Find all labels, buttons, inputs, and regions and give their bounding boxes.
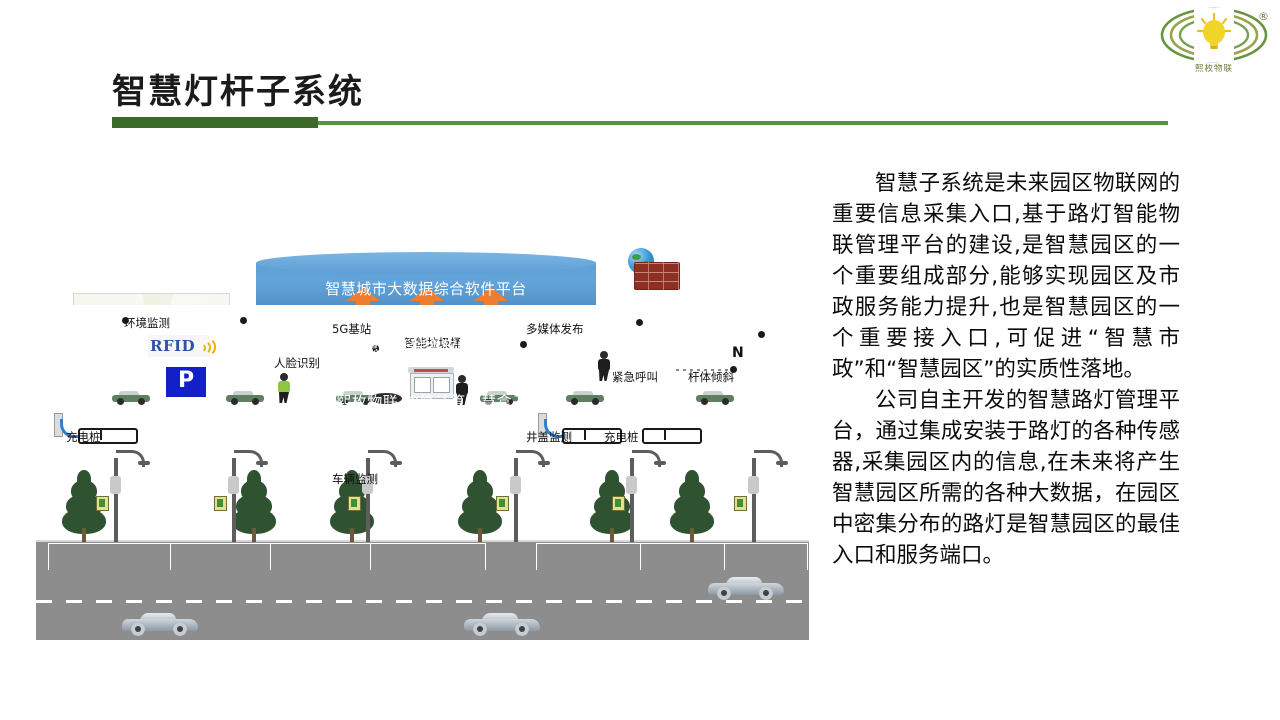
slide-root: ® 熙枚物联 智慧灯杆子系统 智慧子系统是未来园区物联网的重要信息采集入口,基于… [0, 0, 1280, 720]
label-emergency-call: 紧急呼叫 [612, 369, 658, 385]
parked-car-icon [112, 391, 150, 405]
page-title: 智慧灯杆子系统 [112, 64, 364, 113]
lamp-pole[interactable] [216, 450, 262, 542]
parking-bay [270, 543, 372, 570]
paragraph-2: 公司自主开发的智慧路灯管理平台，通过集成安装于路灯的各种传感器,采集园区内的信息… [832, 385, 1180, 571]
sensor-node [636, 319, 643, 326]
label-charging-pile-mid: 充电桩 [604, 429, 639, 445]
moving-car [464, 612, 540, 636]
ev-in-bay [642, 425, 698, 442]
pedestrian-figure [596, 351, 612, 381]
parking-bay [640, 543, 726, 570]
lamp-pole[interactable] [614, 450, 660, 542]
lamp-pole[interactable] [736, 450, 782, 542]
paragraph-1: 智慧子系统是未来园区物联网的重要信息采集入口,基于路灯智能物联管理平台的建设,是… [832, 168, 1180, 385]
description-text: 智慧子系统是未来园区物联网的重要信息采集入口,基于路灯智能物联管理平台的建设,是… [832, 168, 1180, 571]
label-env-monitor: 环境监测 [124, 315, 170, 331]
parking-bay [536, 543, 642, 570]
label-pole-tilt: 杆体倾斜 [688, 369, 734, 385]
svg-text:®: ® [1258, 10, 1269, 23]
layer-label: 智慧城市大数据综合软件平台 [256, 278, 596, 299]
title-underline-thick [112, 117, 318, 128]
rfid-label: RFID [148, 337, 195, 355]
lamp-pole[interactable] [350, 450, 396, 542]
parking-sign-icon: P [164, 365, 208, 399]
lamp-pole[interactable] [98, 450, 144, 542]
label-manhole-monitor: 井盖监测 [526, 429, 572, 445]
road-center-line [36, 600, 809, 603]
lamp-pole[interactable] [498, 450, 544, 542]
label-charging-pile-left: 充电桩 [66, 429, 101, 445]
parking-bay [170, 543, 272, 570]
layer-label: 智慧灯杆综合软件平台 [284, 335, 568, 356]
label-face-recognition: 人脸识别 [274, 355, 320, 371]
pedestrian-figure [276, 373, 292, 403]
logo-text: 熙枚物联 [1158, 62, 1270, 74]
parked-car-icon [566, 391, 604, 405]
parking-bay [48, 543, 172, 570]
company-logo: ® 熙枚物联 [1158, 4, 1270, 82]
parking-bay [370, 543, 486, 570]
layer-city-platform[interactable]: 智慧城市大数据综合软件平台 [256, 252, 596, 298]
rfid-waves-icon [196, 337, 210, 355]
sensor-node [758, 331, 765, 338]
tree [666, 468, 718, 542]
label-vehicle-monitor: 车辆监测 [332, 471, 378, 487]
label-north-marker: N [732, 345, 744, 361]
logo-mark: ® [1158, 4, 1270, 66]
title-underline-thin [318, 121, 1168, 125]
rfid-icon: RFID [148, 335, 210, 357]
layer-label: 熙枚物联-边缘计算智慧盒子 [312, 391, 552, 412]
parked-car-icon [696, 391, 734, 405]
moving-car [122, 612, 198, 636]
globe-firewall-icon [622, 248, 682, 292]
sensor-node [240, 317, 247, 324]
parking-bay [724, 543, 808, 570]
moving-car [708, 576, 784, 600]
parked-car-icon [226, 391, 264, 405]
